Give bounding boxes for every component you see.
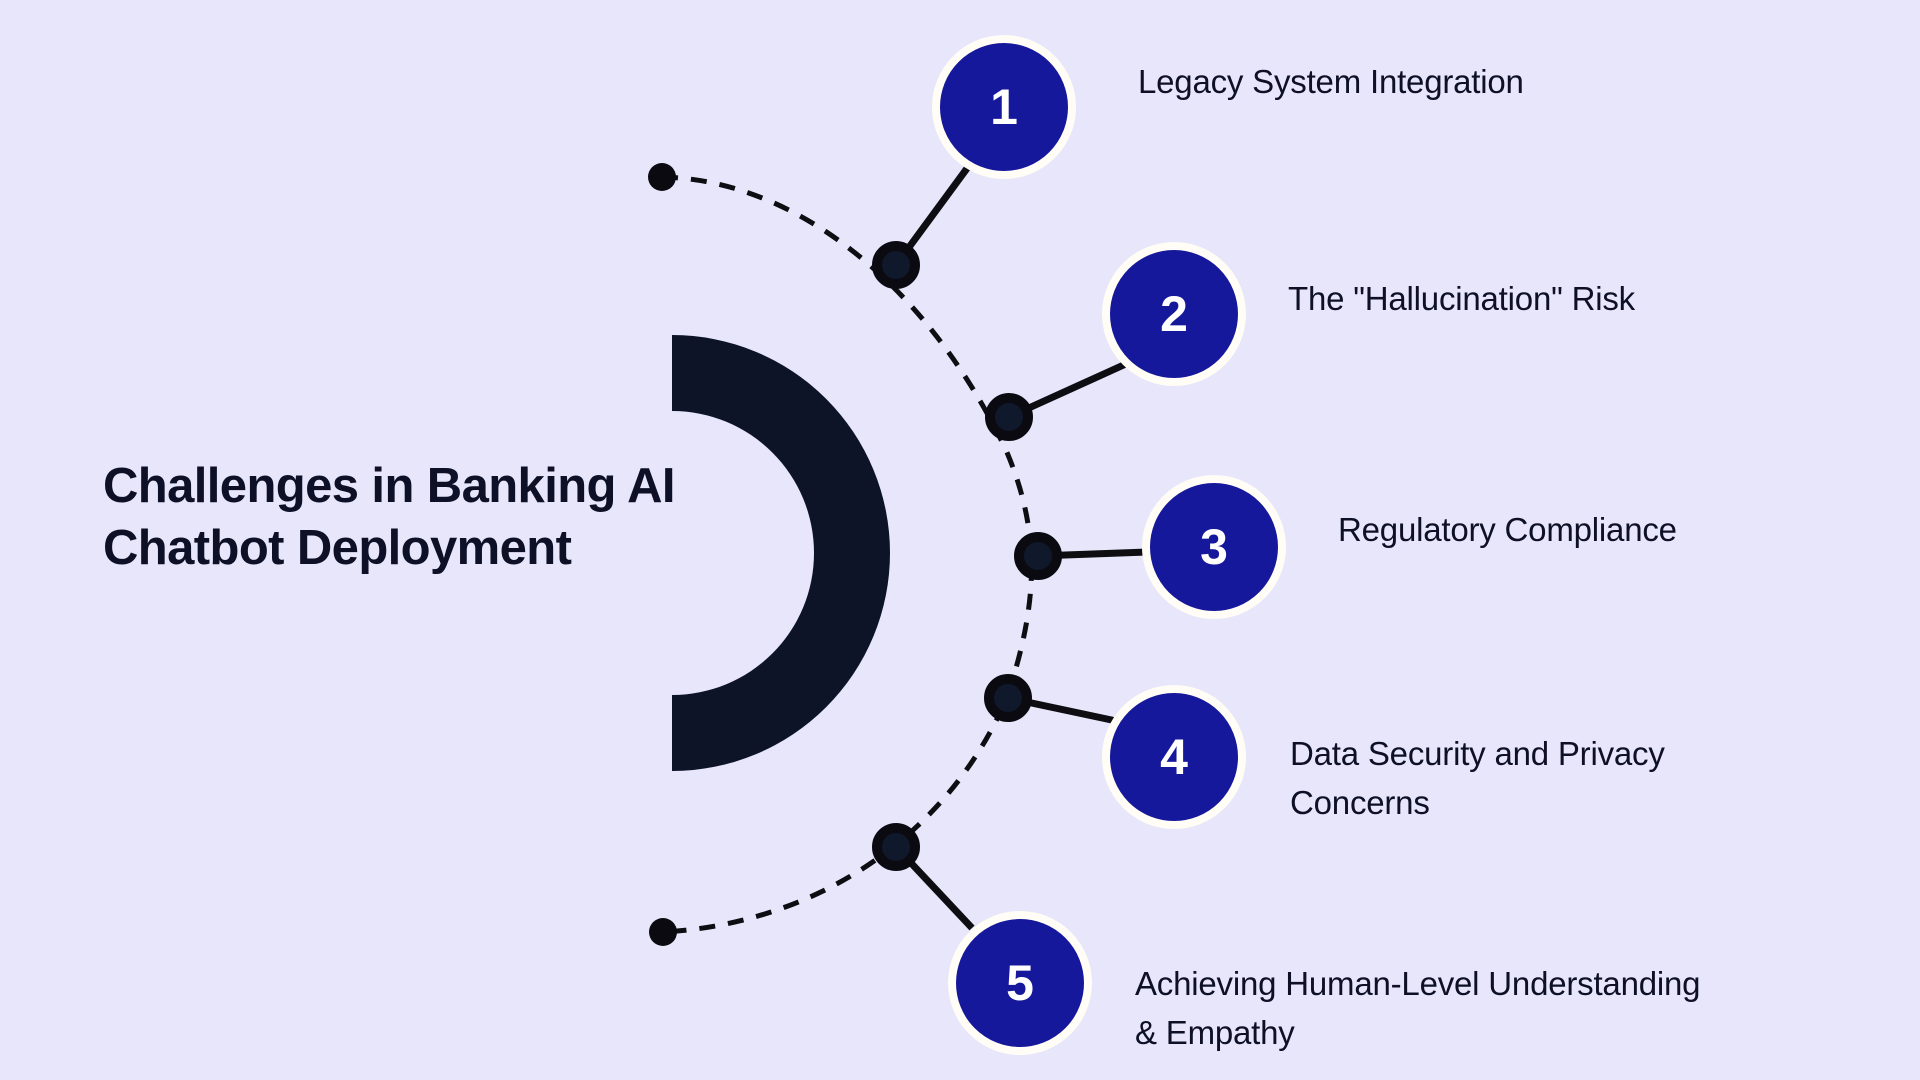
item-label-1: Legacy System Integration: [1138, 57, 1658, 106]
page-title-line-1: Challenges in Banking AI: [103, 455, 803, 517]
numbered-circle-5[interactable]: 5: [952, 915, 1088, 1051]
infographic-canvas: 1 2 3 4 5 Challenges in Banking AI Chatb…: [0, 0, 1920, 1080]
numbered-circle-3-number: 3: [1200, 519, 1228, 575]
numbered-circle-2-number: 2: [1160, 286, 1188, 342]
numbered-circle-4[interactable]: 4: [1106, 689, 1242, 825]
item-label-5-line-1: Achieving Human-Level Understanding: [1135, 959, 1835, 1008]
junction-node-3[interactable]: [1019, 537, 1057, 575]
item-label-1-line-1: Legacy System Integration: [1138, 57, 1658, 106]
item-label-2: The "Hallucination" Risk: [1288, 274, 1768, 323]
junction-node-1[interactable]: [877, 246, 915, 284]
item-label-3: Regulatory Compliance: [1338, 505, 1818, 554]
numbered-circle-1[interactable]: 1: [936, 39, 1072, 175]
numbered-circle-3[interactable]: 3: [1146, 479, 1282, 615]
page-title-line-2: Chatbot Deployment: [103, 517, 803, 579]
page-title: Challenges in Banking AI Chatbot Deploym…: [103, 455, 803, 579]
path-start-dot: [648, 163, 676, 191]
numbered-circle-4-number: 4: [1160, 729, 1188, 785]
item-label-3-line-1: Regulatory Compliance: [1338, 505, 1818, 554]
numbered-circle-5-number: 5: [1006, 955, 1034, 1011]
item-label-5: Achieving Human-Level Understanding & Em…: [1135, 959, 1835, 1057]
junction-node-4[interactable]: [989, 679, 1027, 717]
path-end-dot: [649, 918, 677, 946]
item-label-4: Data Security and Privacy Concerns: [1290, 729, 1760, 827]
numbered-circle-1-number: 1: [990, 79, 1018, 135]
item-label-4-line-2: Concerns: [1290, 778, 1760, 827]
item-label-2-line-1: The "Hallucination" Risk: [1288, 274, 1768, 323]
item-label-4-line-1: Data Security and Privacy: [1290, 729, 1760, 778]
item-label-5-line-2: & Empathy: [1135, 1008, 1835, 1057]
junction-node-5[interactable]: [877, 828, 915, 866]
junction-node-2[interactable]: [990, 398, 1028, 436]
numbered-circle-2[interactable]: 2: [1106, 246, 1242, 382]
